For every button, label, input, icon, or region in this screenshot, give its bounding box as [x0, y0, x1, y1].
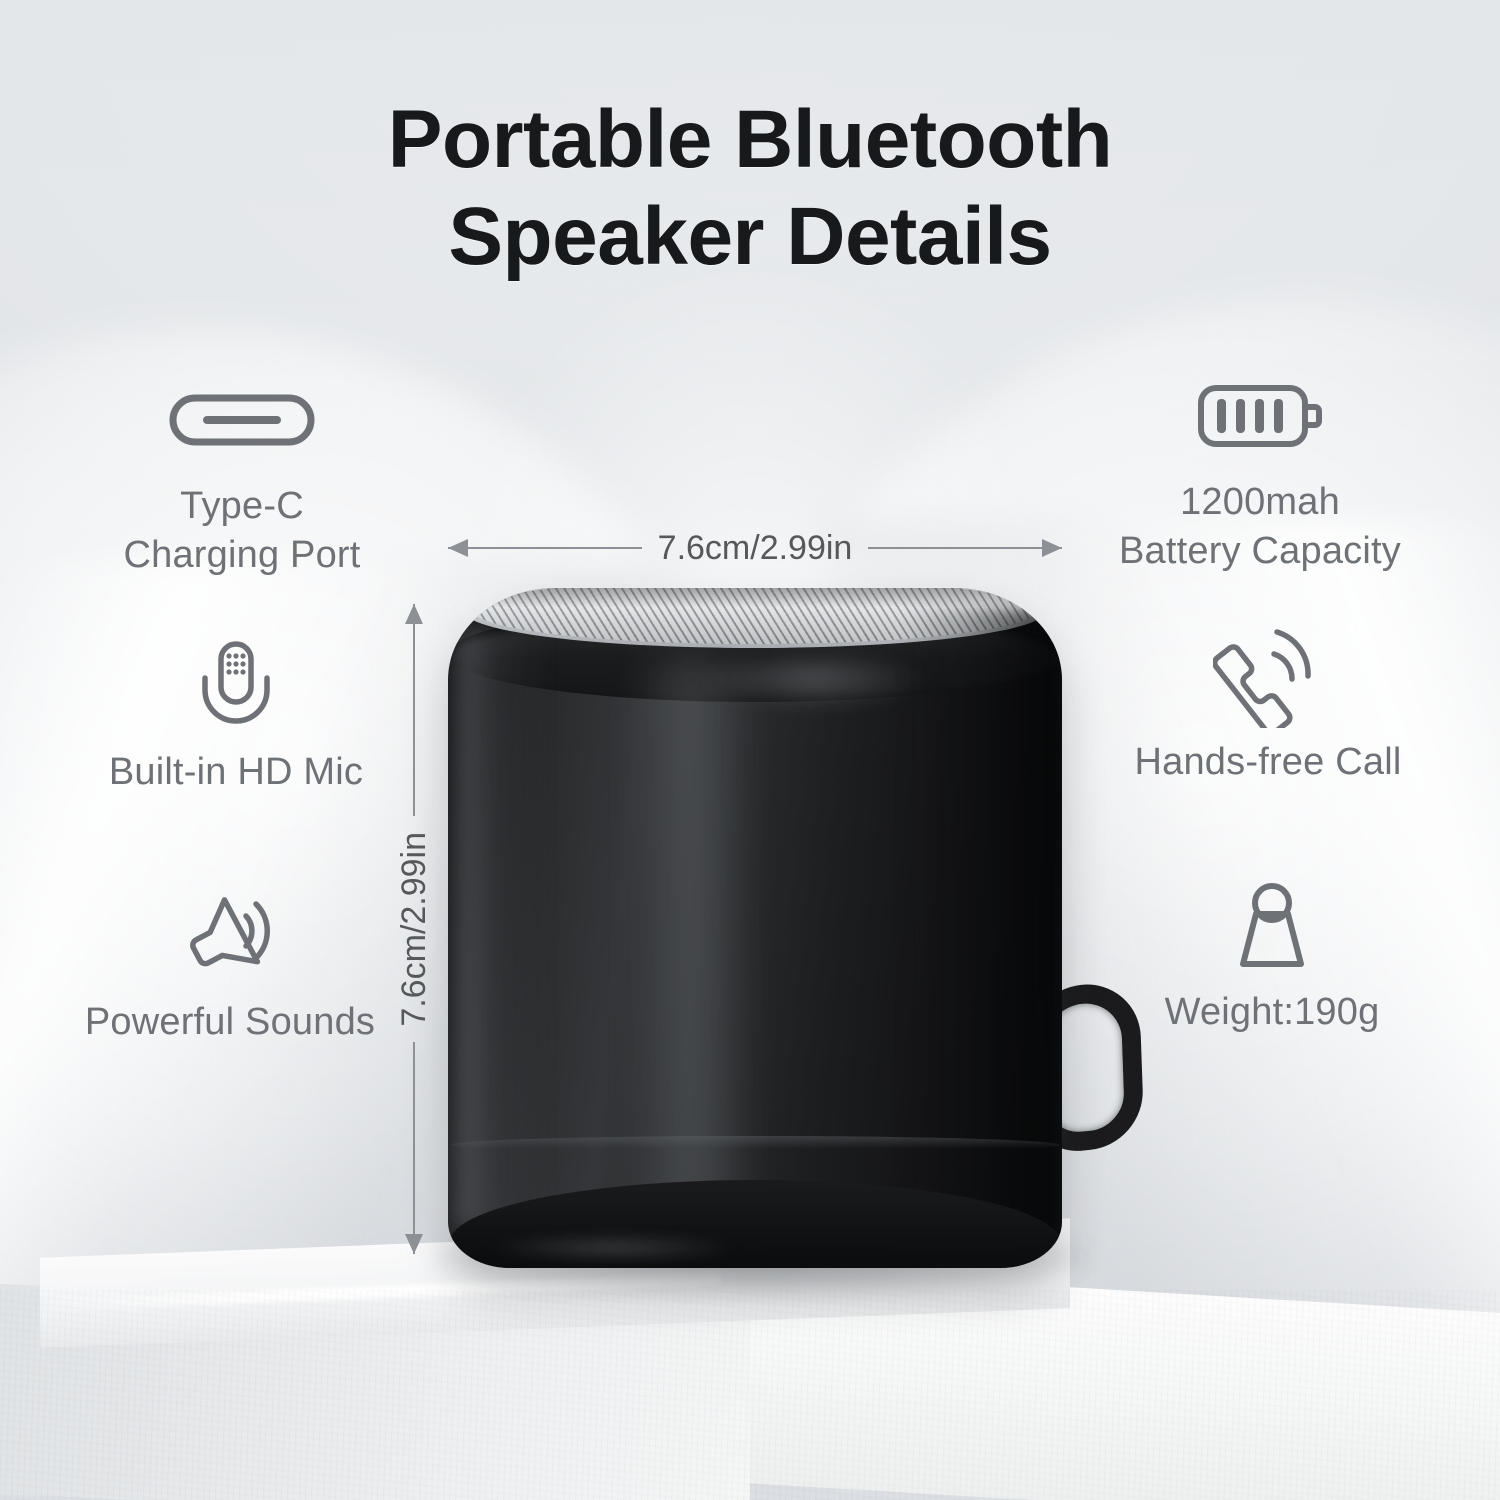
speaker-sound-icon — [30, 888, 430, 984]
width-dimension-line-right — [868, 547, 1062, 549]
arrow-left-icon — [448, 539, 468, 557]
feature-battery-capacity: 1200mah Battery Capacity — [1060, 368, 1460, 575]
feature-label: Weight:190g — [1072, 988, 1472, 1037]
speaker-base-highlight — [488, 1234, 738, 1262]
width-dimension: 7.6cm/2.99in — [448, 520, 1062, 576]
battery-icon — [1060, 368, 1460, 464]
speaker-body-seam — [450, 1136, 1060, 1154]
microphone-icon — [36, 638, 436, 734]
pedestal-texture — [0, 1290, 1500, 1500]
weight-icon — [1072, 878, 1472, 974]
feature-type-c-charging-port: Type-C Charging Port — [42, 372, 442, 579]
arrow-up-icon — [405, 604, 423, 624]
feature-built-in-hd-mic: Built-in HD Mic — [36, 638, 436, 797]
width-dimension-line-left — [448, 547, 642, 549]
infographic-canvas: Portable Bluetooth Speaker Details 7.6cm… — [0, 0, 1500, 1500]
width-dimension-label: 7.6cm/2.99in — [642, 529, 869, 568]
feature-label: Powerful Sounds — [30, 998, 430, 1047]
speaker-center-highlight — [628, 658, 758, 1218]
usb-type-c-icon — [42, 372, 442, 468]
feature-weight: Weight:190g — [1072, 878, 1472, 1037]
feature-hands-free-call: Hands-free Call — [1068, 628, 1468, 787]
feature-label: Type-C Charging Port — [42, 482, 442, 579]
phone-handset-icon — [1068, 628, 1468, 724]
speaker-specular-highlight — [698, 650, 928, 708]
page-title: Portable Bluetooth Speaker Details — [0, 92, 1500, 286]
feature-label: Hands-free Call — [1068, 738, 1468, 787]
feature-powerful-sounds: Powerful Sounds — [30, 888, 430, 1047]
height-dimension-line-bottom — [413, 1042, 415, 1254]
feature-label: 1200mah Battery Capacity — [1060, 478, 1460, 575]
arrow-down-icon — [405, 1234, 423, 1254]
product-speaker — [448, 588, 1062, 1268]
feature-label: Built-in HD Mic — [36, 748, 436, 797]
